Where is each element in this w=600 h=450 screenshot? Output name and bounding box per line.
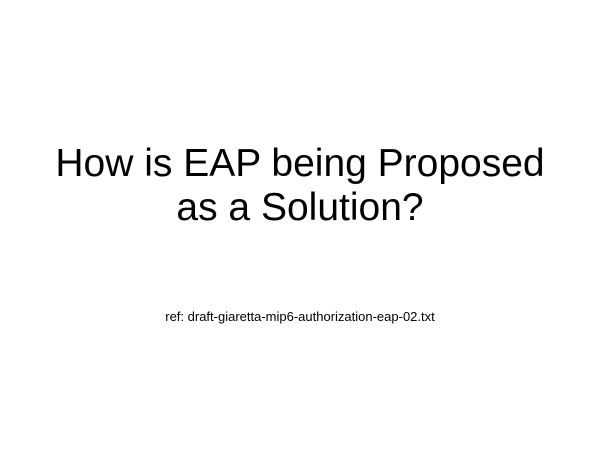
presentation-slide: How is EAP being Proposed as a Solution?…: [0, 0, 600, 450]
slide-title: How is EAP being Proposed as a Solution?: [30, 142, 570, 230]
slide-reference-text: ref: draft-giaretta-mip6-authorization-e…: [30, 309, 570, 325]
